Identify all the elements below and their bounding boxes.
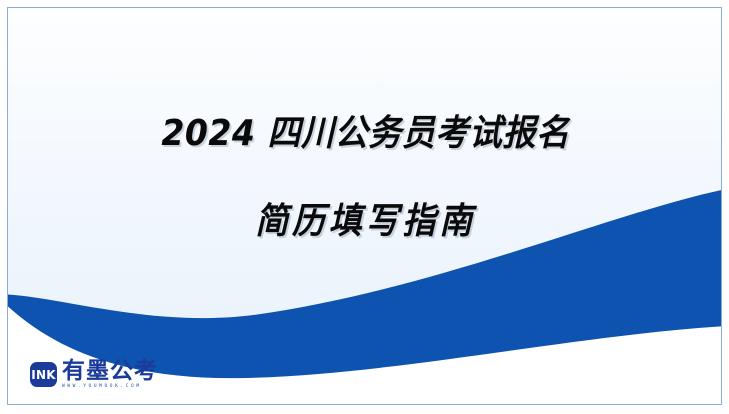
- brand-website-url: WWW.YOUMOOK.COM: [62, 385, 158, 390]
- brand-logo-text: 有墨公考 WWW.YOUMOOK.COM: [62, 360, 158, 390]
- background-artwork: [8, 8, 721, 404]
- poster-canvas: 2024 四川公务员考试报名 简历填写指南 INK 有墨公考 WWW.YOUMO…: [0, 0, 729, 414]
- ink-badge-icon: INK: [30, 362, 57, 387]
- poster-frame: 2024 四川公务员考试报名 简历填写指南 INK 有墨公考 WWW.YOUMO…: [7, 7, 722, 405]
- brand-name: 有墨公考: [62, 360, 158, 383]
- brand-logo[interactable]: INK 有墨公考 WWW.YOUMOOK.COM: [30, 360, 158, 390]
